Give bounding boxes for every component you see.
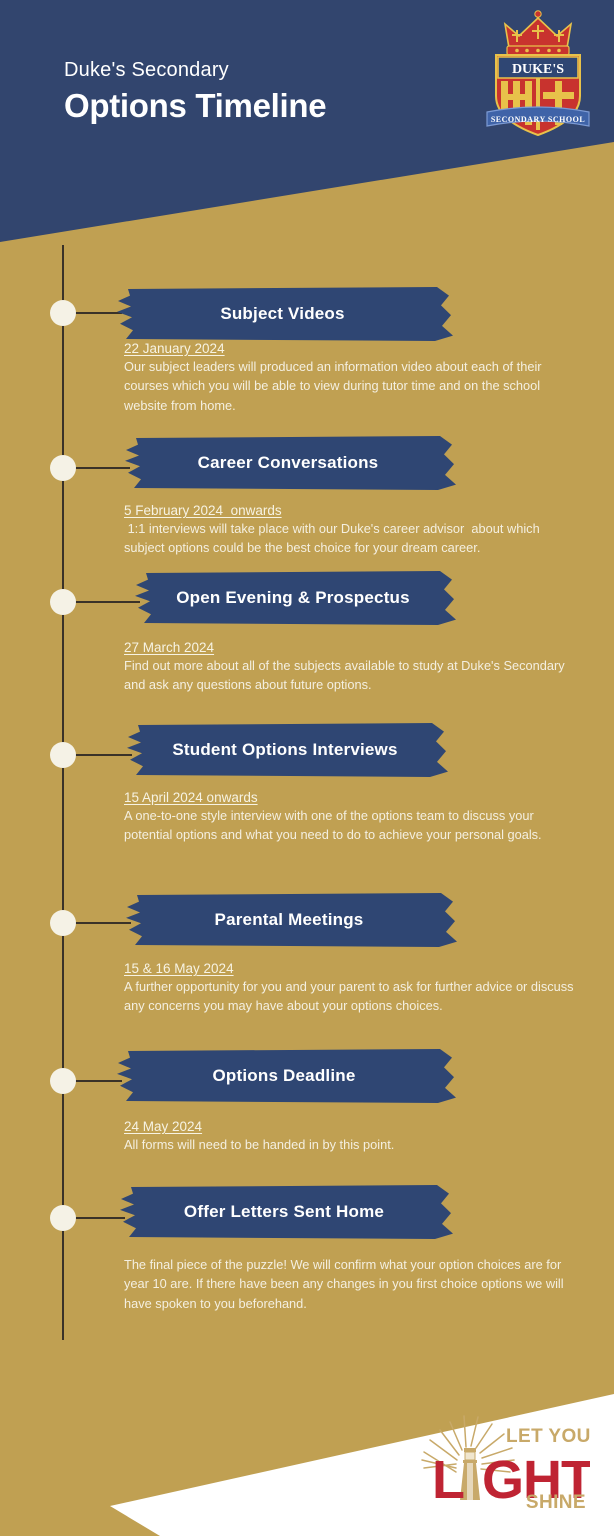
page-header: Duke's Secondary Options Timeline bbox=[0, 0, 614, 250]
timeline-item-description: Our subject leaders will produced an inf… bbox=[124, 357, 574, 415]
timeline-banner-title: Career Conversations bbox=[118, 453, 458, 473]
timeline-item-date: 15 April 2024 onwards bbox=[124, 790, 574, 805]
timeline-item-body: 5 February 2024 onwards 1:1 interviews w… bbox=[124, 503, 574, 558]
timeline-dot bbox=[50, 300, 76, 326]
timeline-banner-title: Subject Videos bbox=[110, 304, 455, 324]
timeline-item-description: The final piece of the puzzle! We will c… bbox=[124, 1255, 574, 1313]
logo-line3: SHINE bbox=[526, 1492, 586, 1508]
timeline-banner-title: Offer Letters Sent Home bbox=[113, 1202, 455, 1222]
timeline-item-body: 15 April 2024 onwardsA one-to-one style … bbox=[124, 790, 574, 845]
timeline-banner: Subject Videos bbox=[110, 287, 455, 341]
timeline-banner-title: Options Deadline bbox=[110, 1066, 458, 1086]
timeline-banner-title: Open Evening & Prospectus bbox=[128, 588, 458, 608]
timeline-banner: Offer Letters Sent Home bbox=[113, 1185, 455, 1239]
timeline-dot bbox=[50, 1205, 76, 1231]
header-text-group: Duke's Secondary Options Timeline bbox=[64, 58, 326, 126]
timeline-item-body: 15 & 16 May 2024A further opportunity fo… bbox=[124, 961, 574, 1016]
timeline-item-description: All forms will need to be handed in by t… bbox=[124, 1135, 574, 1154]
timeline-banner: Student Options Interviews bbox=[120, 723, 450, 777]
page-footer: LET YOUR L GHT SHINE bbox=[0, 1376, 614, 1536]
timeline-dot bbox=[50, 910, 76, 936]
crest-band-text: DUKE'S bbox=[512, 62, 564, 77]
timeline-item-date: 22 January 2024 bbox=[124, 341, 574, 356]
timeline-item-body: 24 May 2024All forms will need to be han… bbox=[124, 1119, 574, 1154]
logo-line1: LET YOUR bbox=[506, 1426, 590, 1447]
page-title: Options Timeline bbox=[64, 85, 326, 126]
timeline-banner: Options Deadline bbox=[110, 1049, 458, 1103]
timeline-item-date: 27 March 2024 bbox=[124, 640, 574, 655]
timeline-dot bbox=[50, 1068, 76, 1094]
timeline-dot bbox=[50, 742, 76, 768]
timeline-dot bbox=[50, 455, 76, 481]
timeline-item-description: Find out more about all of the subjects … bbox=[124, 656, 574, 695]
timeline-item-body: 22 January 2024Our subject leaders will … bbox=[124, 341, 574, 415]
school-crest-icon: DUKE'S SECONDARY SCHOOL bbox=[479, 8, 597, 140]
timeline-item-description: A one-to-one style interview with one of… bbox=[124, 806, 574, 845]
logo-line2-l: L bbox=[432, 1450, 465, 1508]
timeline-banner-title: Student Options Interviews bbox=[120, 740, 450, 760]
header-kicker: Duke's Secondary bbox=[64, 58, 326, 82]
timeline-dot bbox=[50, 589, 76, 615]
timeline-banner-title: Parental Meetings bbox=[119, 910, 459, 930]
timeline-banner: Open Evening & Prospectus bbox=[128, 571, 458, 625]
timeline-item-date: 24 May 2024 bbox=[124, 1119, 574, 1134]
timeline-item-body: 27 March 2024Find out more about all of … bbox=[124, 640, 574, 695]
timeline-item-date: 5 February 2024 onwards bbox=[124, 503, 574, 518]
timeline-banner: Career Conversations bbox=[118, 436, 458, 490]
timeline-banner: Parental Meetings bbox=[119, 893, 459, 947]
crest-ribbon-text: SECONDARY SCHOOL bbox=[491, 115, 585, 124]
timeline-item-date: 15 & 16 May 2024 bbox=[124, 961, 574, 976]
let-your-light-shine-logo: LET YOUR L GHT SHINE bbox=[410, 1410, 590, 1508]
timeline-spine bbox=[62, 245, 64, 1340]
timeline-item-description: A further opportunity for you and your p… bbox=[124, 977, 574, 1016]
timeline-item-description: 1:1 interviews will take place with our … bbox=[124, 519, 574, 558]
timeline-item-body: The final piece of the puzzle! We will c… bbox=[124, 1255, 574, 1313]
